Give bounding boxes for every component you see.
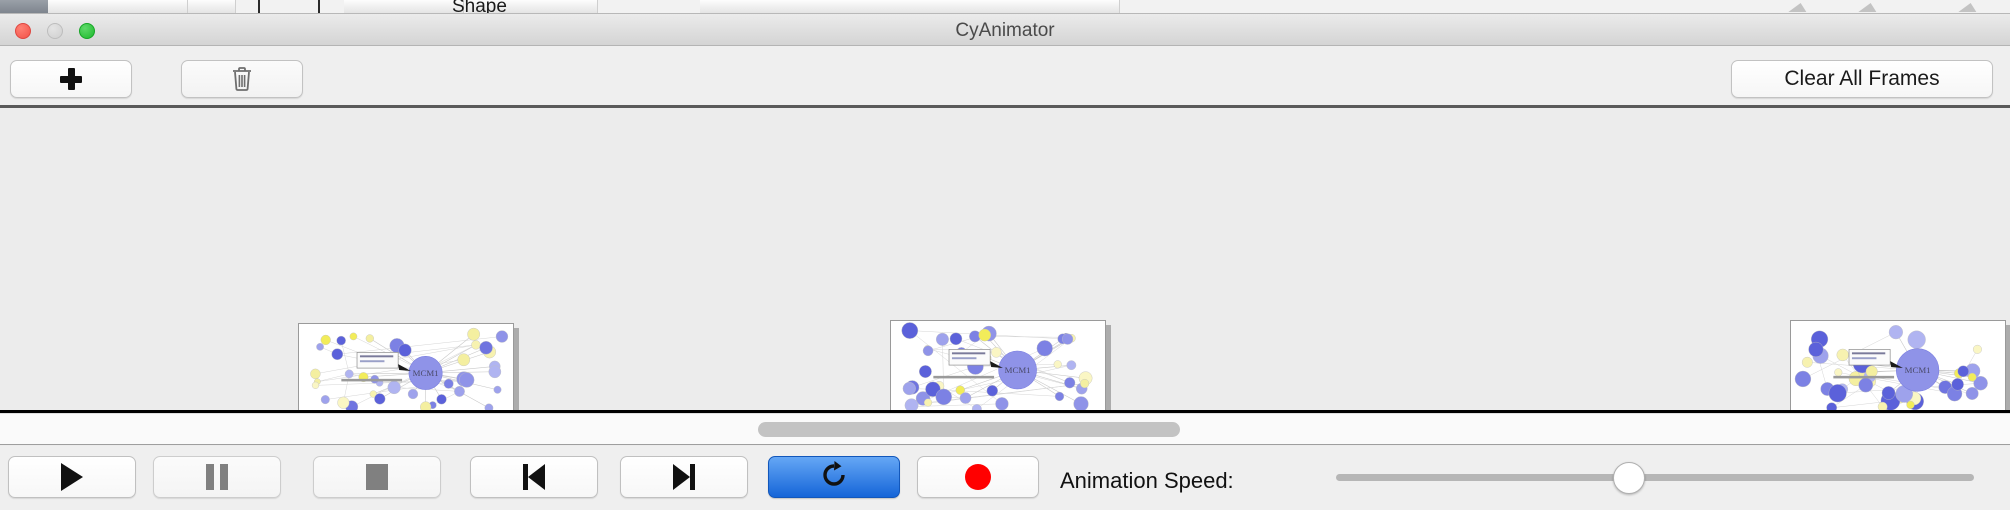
timeline-scrollbar-thumb[interactable] [758, 422, 1180, 437]
playback-control-bar: Animation Speed: [0, 446, 2010, 510]
svg-text:MCM1: MCM1 [1905, 365, 1931, 375]
bg-chunk [344, 0, 464, 14]
pause-button[interactable] [153, 456, 281, 498]
window-title: CyAnimator [0, 20, 2010, 42]
animation-speed-track [1336, 474, 1974, 481]
bg-arrow-icon [1858, 3, 1879, 12]
loop-button[interactable] [768, 456, 900, 498]
timeline-scrollbar-track[interactable] [0, 413, 2010, 445]
timeline-frame[interactable]: MCM1 [890, 320, 1106, 413]
skip-to-start-button[interactable] [470, 456, 598, 498]
delete-frame-button[interactable] [181, 60, 303, 98]
background-window: Shape [0, 0, 2010, 14]
record-button[interactable] [917, 456, 1039, 498]
stop-button[interactable] [313, 456, 441, 498]
timeline-panel[interactable]: MCM1MCM1MCM1 2131415161718 Seconds [0, 108, 2010, 413]
clear-all-frames-label: Clear All Frames [1784, 67, 1939, 91]
network-thumbnail: MCM1 [299, 324, 513, 413]
animation-speed-slider[interactable] [1336, 456, 1974, 498]
bg-chunk [48, 0, 188, 14]
network-thumbnail: MCM1 [1791, 321, 2005, 413]
svg-text:MCM1: MCM1 [1005, 365, 1031, 375]
play-button[interactable] [8, 456, 136, 498]
animation-speed-label: Animation Speed: [1060, 468, 1234, 494]
bg-chunk [188, 0, 236, 14]
bg-dark-chunk [0, 0, 48, 14]
svg-text:MCM1: MCM1 [413, 368, 439, 378]
bg-window-label: Shape [452, 0, 507, 14]
add-frame-button[interactable] [10, 60, 132, 98]
plus-icon [60, 68, 82, 90]
pause-icon [206, 464, 228, 490]
loop-icon [819, 460, 849, 495]
record-icon [965, 464, 991, 490]
network-thumbnail: MCM1 [891, 321, 1105, 413]
bg-arrow-icon [1788, 3, 1809, 12]
skip-end-icon [673, 464, 695, 490]
bg-arrow-icon [1958, 3, 1979, 12]
timeline-frame[interactable]: MCM1 [1790, 320, 2006, 413]
timeline-frame[interactable]: MCM1 [298, 323, 514, 413]
play-icon [61, 463, 83, 491]
clear-all-frames-button[interactable]: Clear All Frames [1731, 60, 1993, 98]
stop-icon [366, 464, 388, 490]
animation-speed-thumb[interactable] [1613, 462, 1645, 494]
title-bar[interactable]: CyAnimator [0, 14, 2010, 46]
bg-tick [258, 0, 260, 14]
skip-start-icon [523, 464, 545, 490]
toolbar: Clear All Frames [0, 46, 2010, 107]
bg-chunk [700, 0, 1120, 14]
trash-icon [231, 66, 253, 92]
skip-to-end-button[interactable] [620, 456, 748, 498]
bg-tick [318, 0, 320, 14]
